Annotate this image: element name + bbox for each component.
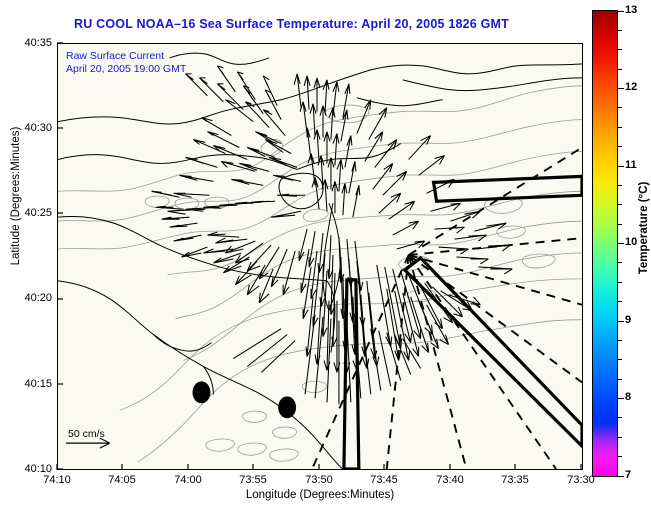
x-tick-label: 74:00 [158, 474, 218, 486]
x-axis-title: Longitude (Degrees:Minutes) [57, 489, 583, 501]
colorbar-tick-label: 9 [625, 314, 631, 326]
map-canvas [58, 44, 582, 469]
annotation-raw-surface-current: Raw Surface Current [66, 50, 164, 63]
sst-contour-lines [58, 86, 582, 462]
x-tick-label: 73:45 [354, 474, 414, 486]
x-tick-label: 73:50 [289, 474, 349, 486]
y-tick-label: 40:20 [0, 292, 52, 304]
colorbar-title: Temperature (°C) [638, 153, 650, 303]
scale-legend-label: 50 cm/s [68, 428, 105, 440]
figure-title: RU COOL NOAA–16 Sea Surface Temperature:… [0, 17, 583, 31]
x-tick-label: 74:05 [92, 474, 152, 486]
x-tick-label: 73:35 [485, 474, 545, 486]
colorbar-tick-label: 7 [625, 469, 631, 481]
annotation-current-datetime: April 20, 2005 19:00 GMT [66, 63, 186, 76]
y-tick-label: 40:30 [0, 122, 52, 134]
y-tick-label: 40:25 [0, 207, 52, 219]
radar-station-markers [192, 381, 296, 418]
x-tick-label: 74:10 [27, 474, 87, 486]
colorbar-tick-label: 11 [625, 159, 637, 171]
x-tick-label: 73:40 [420, 474, 480, 486]
y-axis-title: Latitude (Degrees:Minutes) [10, 101, 22, 291]
colorbar-tick-label: 8 [625, 391, 631, 403]
colorbar [592, 10, 618, 477]
y-tick-label: 40:15 [0, 378, 52, 390]
colorbar-tick-label: 12 [625, 81, 637, 93]
colorbar-tick-label: 10 [625, 236, 637, 248]
colorbar-tick-label: 13 [625, 4, 637, 16]
y-tick-label: 40:35 [0, 37, 52, 49]
figure-root: RU COOL NOAA–16 Sea Surface Temperature:… [0, 0, 651, 515]
x-tick-label: 73:55 [223, 474, 283, 486]
map-plot-area: Raw Surface Current April 20, 2005 19:00… [57, 43, 583, 470]
